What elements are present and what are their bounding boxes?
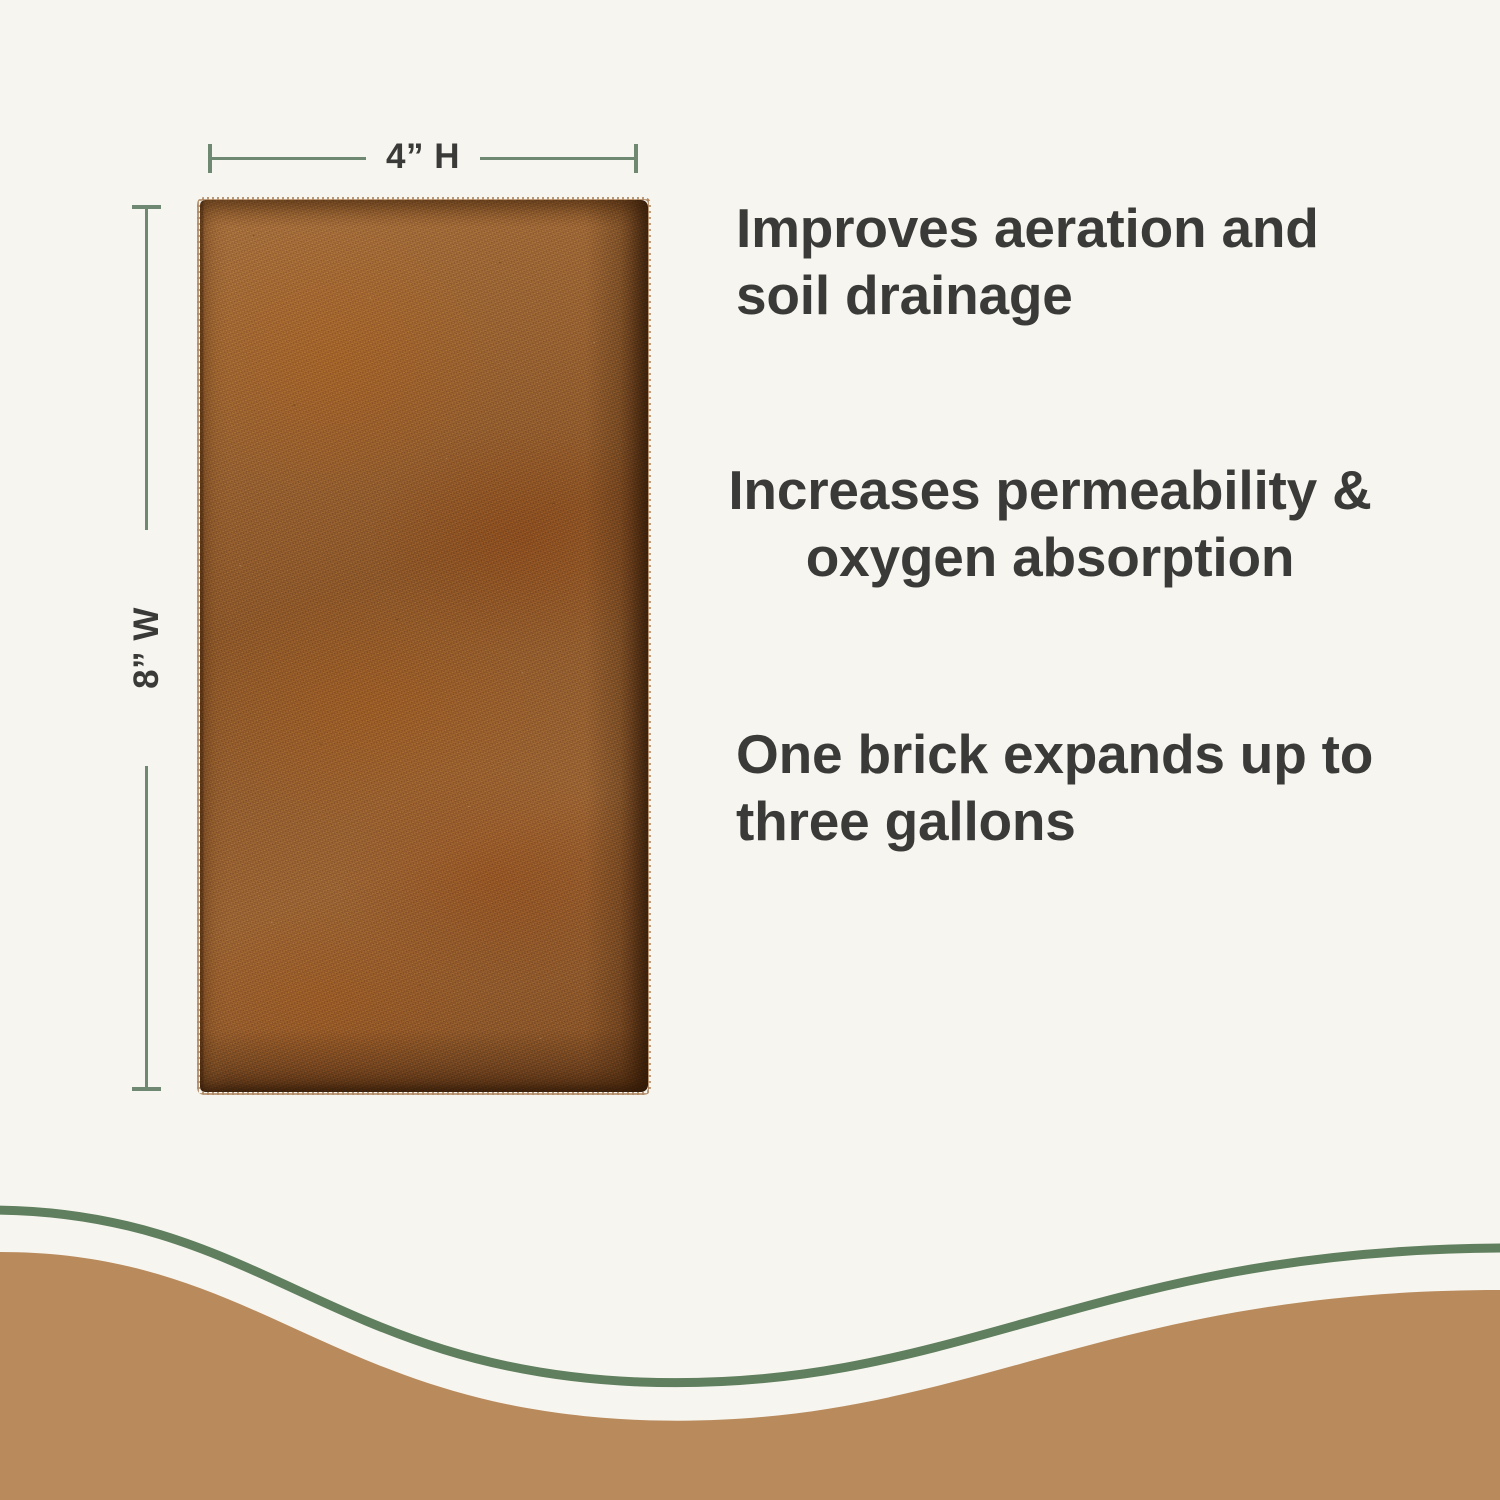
- dimension-annotation-width: 8” W: [130, 205, 164, 1091]
- infographic-canvas: 4” H 8” W Improves aeration and soil dra…: [0, 0, 1500, 1500]
- dimension-label-width: 8” W: [127, 607, 167, 689]
- decorative-bottom-wave: [0, 1170, 1500, 1500]
- dimension-end-cap-bottom: [132, 1087, 161, 1091]
- dimension-label-height: 4” H: [386, 137, 460, 177]
- benefit-item-expansion: One brick expands up to three gallons: [700, 721, 1400, 855]
- benefit-item-aeration: Improves aeration and soil drainage: [700, 195, 1400, 329]
- benefits-list: Improves aeration and soil drainage Incr…: [700, 195, 1400, 856]
- dimension-rule-right: [480, 157, 638, 160]
- product-image-coir-brick: [200, 200, 648, 1092]
- dimension-rule-bottom: [145, 766, 148, 1091]
- dimension-annotation-height: 4” H: [208, 140, 638, 176]
- coir-brick-texture: [200, 200, 648, 1092]
- benefit-item-permeability: Increases permeability & oxygen absorpti…: [700, 457, 1400, 591]
- dimension-rule-top: [145, 205, 148, 530]
- dimension-rule-left: [208, 157, 366, 160]
- dimension-end-cap-right: [634, 144, 638, 173]
